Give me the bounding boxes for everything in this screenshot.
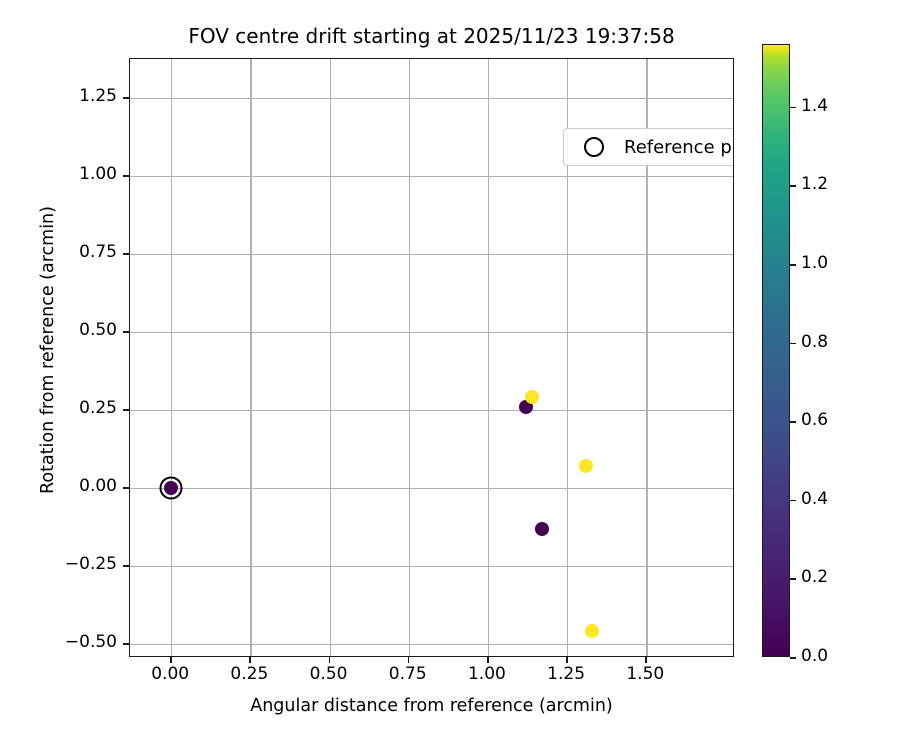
x-axis-label: Angular distance from reference (arcmin) xyxy=(129,696,734,716)
colorbar-tick-mark xyxy=(790,107,796,109)
scatter-point xyxy=(579,459,593,473)
y-tick-mark xyxy=(123,175,129,177)
colorbar-tick-label: 1.4 xyxy=(801,96,828,116)
y-tick-label: 1.00 xyxy=(0,164,117,184)
y-tick-label: −0.50 xyxy=(0,632,117,652)
chart-title: FOV centre drift starting at 2025/11/23 … xyxy=(129,24,734,48)
x-tick-label: 0.50 xyxy=(289,664,369,684)
colorbar-gradient xyxy=(762,44,790,657)
colorbar-tick-label: 1.0 xyxy=(801,253,828,273)
colorbar-tick-mark xyxy=(790,185,796,187)
colorbar-tick-label: 0.8 xyxy=(801,332,828,352)
colorbar-tick-label: 0.0 xyxy=(801,646,828,666)
colorbar-tick-label: 0.2 xyxy=(801,567,828,587)
x-tick-label: 1.00 xyxy=(447,664,527,684)
x-tick-label: 0.25 xyxy=(209,664,289,684)
x-tick-mark xyxy=(329,657,331,663)
x-tick-label: 0.75 xyxy=(368,664,448,684)
scatter-point xyxy=(585,624,599,638)
colorbar-container[interactable]: 0.00.20.40.60.81.01.21.4 xyxy=(762,44,790,657)
colorbar-tick-mark xyxy=(790,578,796,580)
x-tick-mark xyxy=(645,657,647,663)
colorbar-tick-mark xyxy=(790,264,796,266)
gridline-horizontal xyxy=(130,566,733,567)
y-tick-label: 0.00 xyxy=(0,476,117,496)
y-tick-label: 0.75 xyxy=(0,242,117,262)
x-tick-label: 1.25 xyxy=(526,664,606,684)
figure-canvas: FOV centre drift starting at 2025/11/23 … xyxy=(0,0,900,750)
y-tick-mark xyxy=(123,643,129,645)
y-tick-label: 0.50 xyxy=(0,320,117,340)
x-tick-mark xyxy=(566,657,568,663)
legend-label: Reference platepar xyxy=(624,137,734,158)
scatter-point xyxy=(164,481,178,495)
colorbar-tick-label: 0.6 xyxy=(801,410,828,430)
y-tick-label: −0.25 xyxy=(0,554,117,574)
gridline-horizontal xyxy=(130,176,733,177)
y-tick-mark xyxy=(123,97,129,99)
plot-axes[interactable]: Reference platepar xyxy=(129,58,734,657)
gridline-horizontal xyxy=(130,254,733,255)
colorbar-tick-mark xyxy=(790,343,796,345)
y-tick-mark xyxy=(123,331,129,333)
legend-box[interactable]: Reference platepar xyxy=(563,128,734,166)
colorbar-tick-label: 1.2 xyxy=(801,174,828,194)
colorbar-tick-label: 0.4 xyxy=(801,489,828,509)
y-tick-mark xyxy=(123,253,129,255)
legend-marker-cell xyxy=(564,137,624,157)
x-tick-mark xyxy=(408,657,410,663)
gridline-horizontal xyxy=(130,410,733,411)
colorbar-tick-mark xyxy=(790,657,796,659)
y-axis-label: Rotation from reference (arcmin) xyxy=(38,50,58,650)
open-circle-icon xyxy=(584,137,604,157)
scatter-point xyxy=(535,522,549,536)
y-tick-label: 1.25 xyxy=(0,86,117,106)
gridline-horizontal xyxy=(130,332,733,333)
y-tick-label: 0.25 xyxy=(0,398,117,418)
colorbar-tick-mark xyxy=(790,500,796,502)
gridline-horizontal xyxy=(130,644,733,645)
x-tick-mark xyxy=(170,657,172,663)
scatter-point xyxy=(525,390,539,404)
gridline-horizontal xyxy=(130,488,733,489)
x-tick-mark xyxy=(487,657,489,663)
y-tick-mark xyxy=(123,565,129,567)
x-tick-mark xyxy=(249,657,251,663)
y-tick-mark xyxy=(123,409,129,411)
colorbar-tick-mark xyxy=(790,421,796,423)
x-tick-label: 1.50 xyxy=(605,664,685,684)
gridline-horizontal xyxy=(130,98,733,99)
y-tick-mark xyxy=(123,487,129,489)
x-tick-label: 0.00 xyxy=(130,664,210,684)
